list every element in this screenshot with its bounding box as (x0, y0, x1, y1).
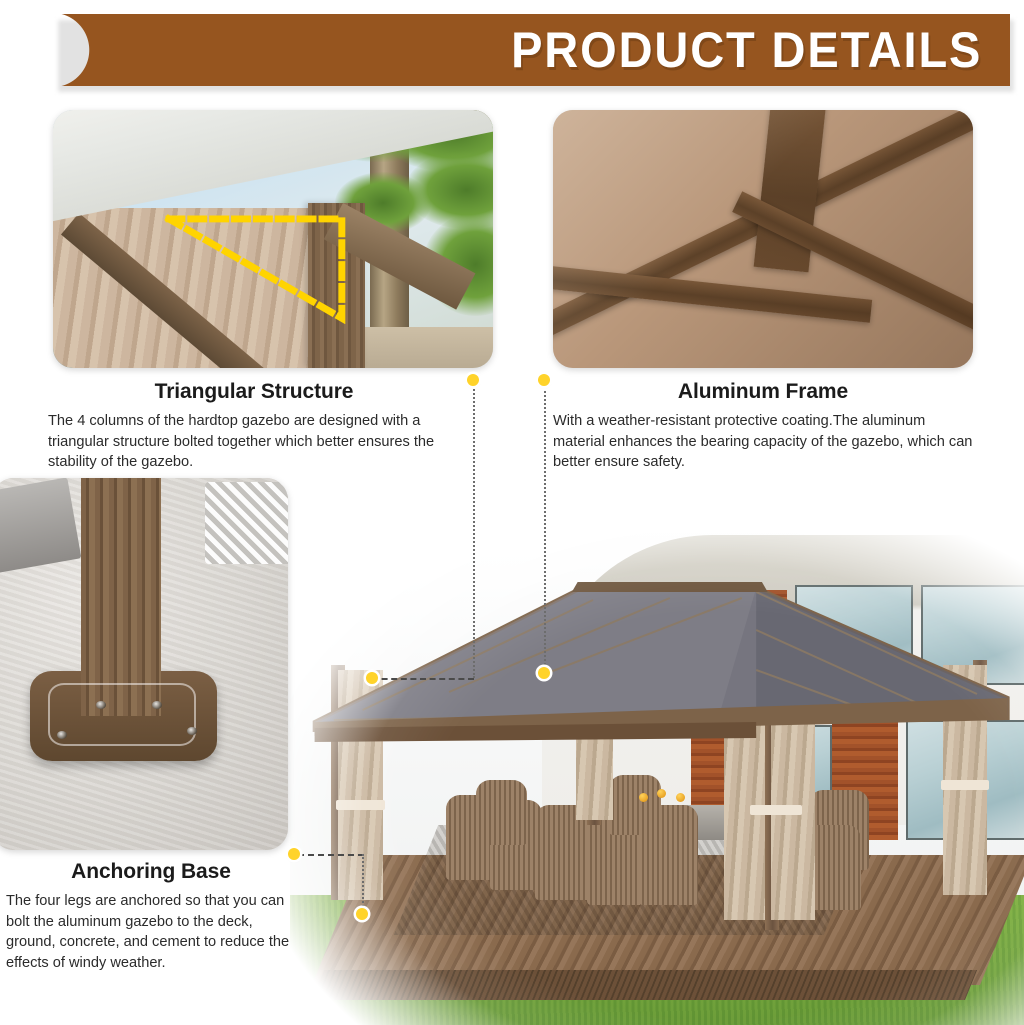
photo-art-aluminum (553, 110, 973, 368)
triangle-highlight-icon (163, 203, 348, 324)
connector-dot-triangular-bottom (366, 672, 378, 684)
photo-lighting-overlay (553, 110, 973, 368)
gazebo-post-fluted (81, 478, 161, 716)
connector-line-triangular-foot (372, 678, 474, 680)
feature-text-anchoring-base: Anchoring Base The four legs are anchore… (6, 860, 296, 974)
photo-art-triangular (53, 110, 493, 368)
feature-title-triangular: Triangular Structure (48, 380, 460, 404)
anchor-bolt (96, 701, 106, 709)
dining-chair (609, 775, 661, 835)
background-patterned-stool (205, 482, 288, 564)
page-title: PRODUCT DETAILS (511, 21, 982, 79)
feature-body-aluminum: With a weather-resistant protective coat… (553, 411, 973, 473)
connector-dot-aluminum-bottom (538, 667, 550, 679)
photo-triangular-structure (53, 110, 493, 368)
fruit-bowl-item (676, 793, 685, 802)
gazebo-roof (305, 570, 1017, 750)
connector-dot-aluminum-top (538, 374, 550, 386)
connector-line-triangular (473, 386, 475, 678)
feature-title-anchoring: Anchoring Base (6, 860, 296, 884)
connector-line-anchoring-vertical (362, 854, 364, 914)
fruit-bowl-item (639, 793, 648, 802)
connector-dot-triangular-top (467, 374, 479, 386)
roof-geometry (305, 570, 1017, 750)
feature-text-triangular-structure: Triangular Structure The 4 columns of th… (48, 380, 460, 473)
curtain-tie (750, 805, 802, 815)
photo-anchoring-base (0, 478, 288, 850)
connector-line-aluminum (544, 386, 546, 673)
photo-art-anchor (0, 478, 288, 850)
feature-body-anchoring: The four legs are anchored so that you c… (6, 891, 296, 974)
infographic-canvas: PRODUCT DETAILS (0, 0, 1024, 1024)
connector-line-anchoring-horizontal (298, 854, 364, 856)
curtain-tie (941, 780, 988, 790)
deck-edge (312, 970, 977, 1000)
dining-chair (476, 780, 528, 845)
anchor-bolt (152, 701, 162, 709)
feature-text-aluminum-frame: Aluminum Frame With a weather-resistant … (553, 380, 973, 473)
anchor-bolt (57, 731, 67, 739)
banner-ribbon: PRODUCT DETAILS (52, 14, 1010, 86)
connector-dot-anchoring-end (356, 908, 368, 920)
connector-dot-anchoring-start (288, 848, 300, 860)
main-gazebo-photo (290, 525, 1024, 1025)
header-banner: PRODUCT DETAILS (0, 14, 1024, 90)
photo-aluminum-frame (553, 110, 973, 368)
feature-title-aluminum: Aluminum Frame (553, 380, 973, 404)
base-plate-inner-outline (48, 683, 196, 746)
feature-body-triangular: The 4 columns of the hardtop gazebo are … (48, 411, 460, 473)
curtain-tie (336, 800, 385, 810)
